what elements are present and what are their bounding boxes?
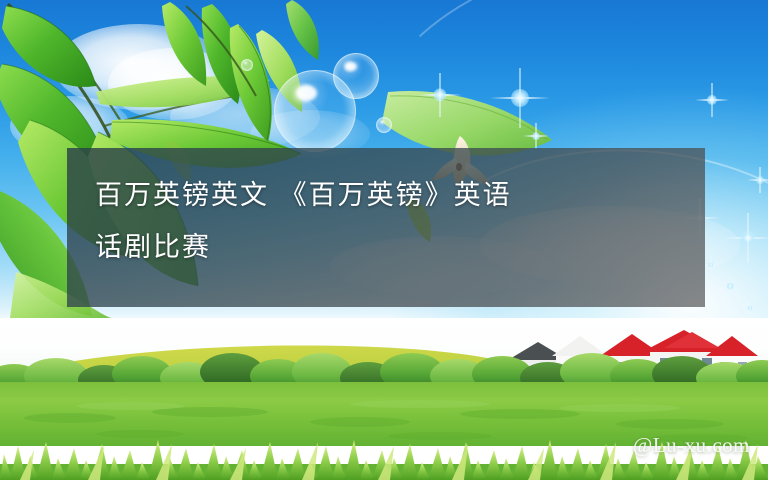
watermark: @Lu-xu.com [633,433,750,458]
title-overlay-box: 百万英镑英文 《百万英镑》英语 话剧比赛 [67,148,705,307]
leaf-icon [162,2,206,86]
title-line-1: 百万英镑英文 《百万英镑》英语 [95,170,705,222]
hero-banner: 百万英镑英文 《百万英镑》英语 话剧比赛 @Lu-xu.com [0,0,768,480]
leaf-icon [286,0,319,60]
title-line-2: 话剧比赛 [95,222,705,274]
